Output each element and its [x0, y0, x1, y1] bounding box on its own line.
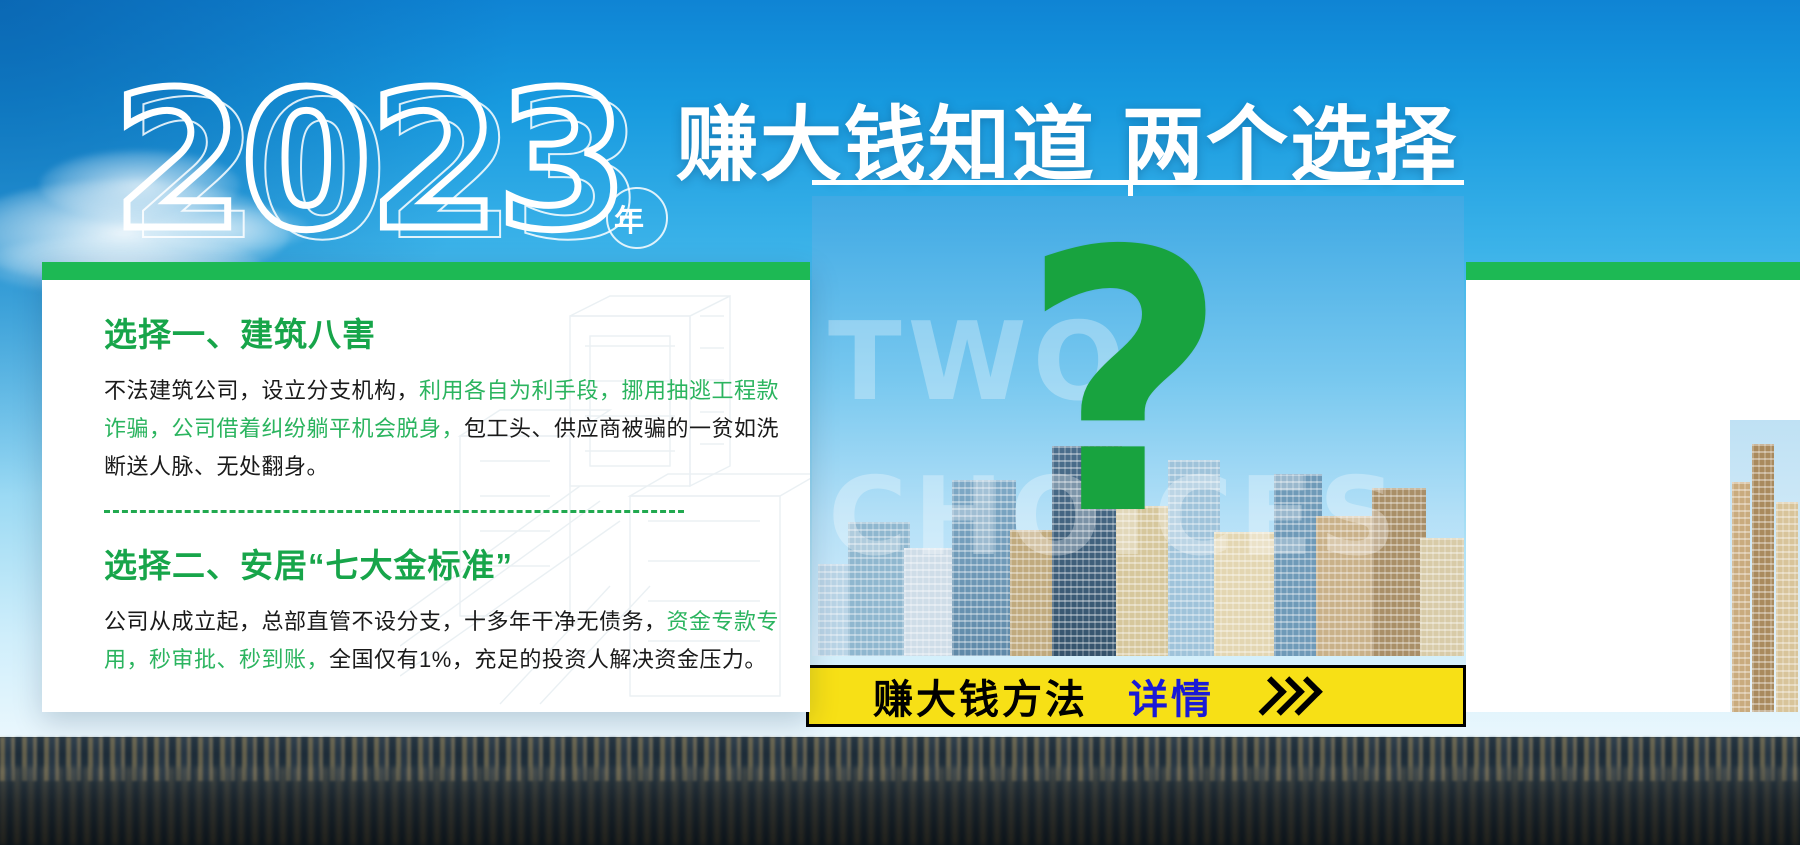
building-block	[1732, 482, 1750, 712]
chevron-right-icon	[1260, 679, 1314, 713]
building-block	[1420, 538, 1464, 656]
bottom-water-strip	[0, 737, 1800, 845]
cta-main-label: 赚大钱方法	[873, 667, 1088, 725]
body-text-black: 不法建筑公司，设立分支机构，	[104, 378, 419, 403]
right-green-accent-bar	[1466, 262, 1800, 280]
section-title-1: 选择一、建筑八害	[104, 308, 782, 356]
section-body-2: 公司从成立起，总部直管不设分支，十多年干净无债务，资金专款专用，秒审批、秒到账，…	[104, 603, 782, 679]
card-content: 选择一、建筑八害 不法建筑公司，设立分支机构，利用各自为利手段，挪用抽逃工程款诈…	[104, 308, 782, 679]
section-title-2: 选择二、安居“七大金标准”	[104, 539, 782, 587]
card-green-top-bar	[42, 262, 810, 280]
year-number-ghost: 2023	[128, 72, 641, 272]
cta-banner[interactable]: 赚大钱方法 详情	[806, 665, 1466, 727]
building-block	[1752, 444, 1774, 712]
right-photo-sliver	[1730, 420, 1800, 712]
year-suffix-label: 年	[614, 196, 645, 240]
building-block	[1776, 502, 1798, 712]
body-text-black: 公司从成立起，总部直管不设分支，十多年干净无债务，	[104, 609, 667, 634]
content-card: 选择一、建筑八害 不法建筑公司，设立分支机构，利用各自为利手段，挪用抽逃工程款诈…	[42, 262, 810, 712]
section-body-1: 不法建筑公司，设立分支机构，利用各自为利手段，挪用抽逃工程款诈骗，公司借着纠纷躺…	[104, 372, 782, 486]
section-choice-one: 选择一、建筑八害 不法建筑公司，设立分支机构，利用各自为利手段，挪用抽逃工程款诈…	[104, 308, 782, 486]
section-divider	[104, 510, 684, 513]
cta-details-link[interactable]: 详情	[1128, 667, 1214, 725]
question-mark-icon: ?	[1020, 205, 1229, 565]
year-graphic: 2023 2023	[112, 62, 672, 262]
body-text-black: 全国仅有1%，充足的投资人解决资金压力。	[329, 647, 767, 672]
promo-banner: 2023 2023 年 赚大钱知道两个选择 TWO CHOICES ? 赚大钱方…	[0, 0, 1800, 845]
section-choice-two: 选择二、安居“七大金标准” 公司从成立起，总部直管不设分支，十多年干净无债务，资…	[104, 539, 782, 679]
